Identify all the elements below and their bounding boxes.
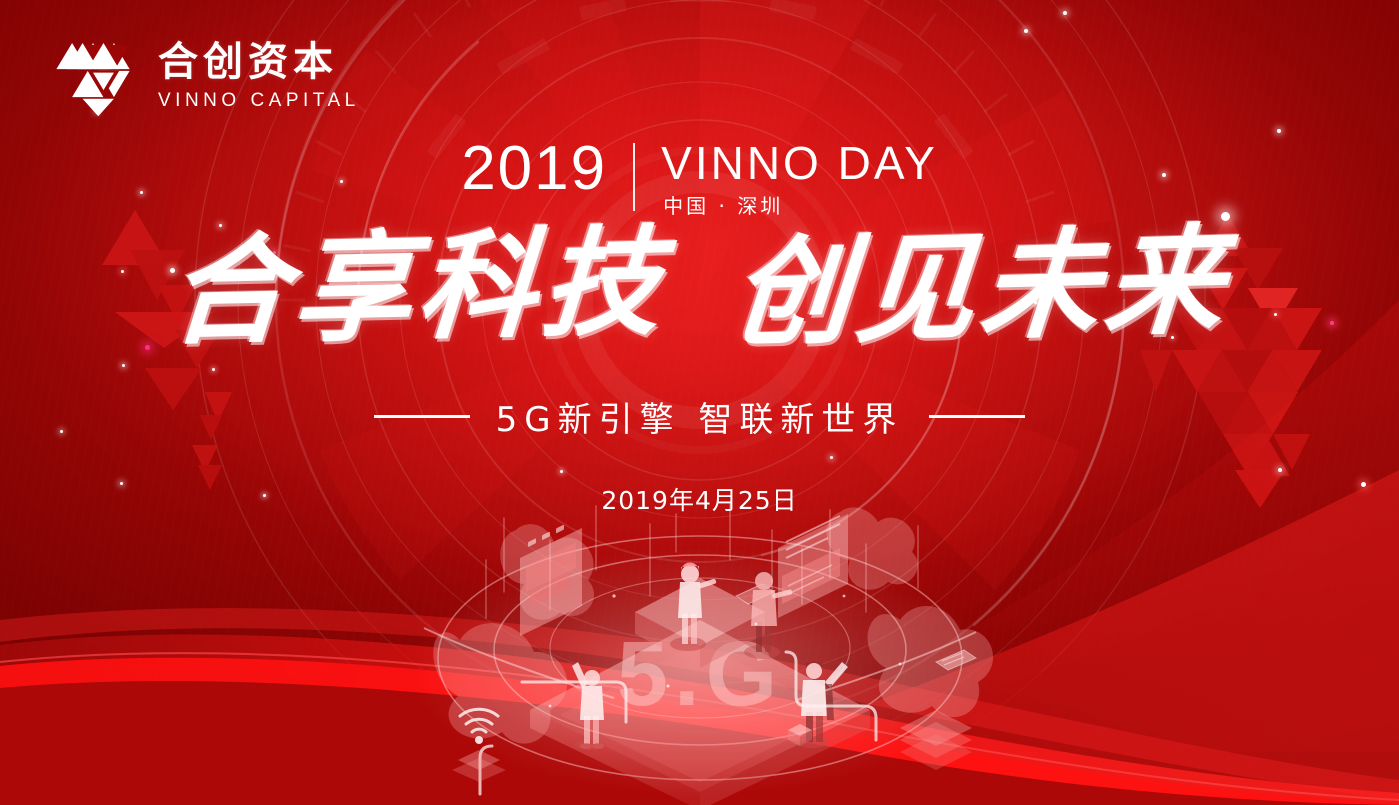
lockup-divider (633, 143, 635, 211)
brand-name-en: VINNO CAPITAL (158, 88, 360, 115)
isometric-5g-city-illustration: 5.G (400, 500, 1000, 805)
brand-logo-text: 合创资本 VINNO CAPITAL (158, 39, 360, 115)
subtitle-text: 5G新引擎 智联新世界 (496, 392, 904, 441)
subtitle-rule-right (929, 415, 1025, 418)
brand-logo[interactable]: 合创资本 VINNO CAPITAL (56, 36, 360, 118)
event-name: VINNO DAY (661, 140, 938, 186)
headline-part-2: 创见未来 (727, 221, 1233, 353)
triangle-fractal-logo-icon (56, 36, 144, 118)
event-lockup: 2019 VINNO DAY 中国 · 深圳 (0, 140, 1399, 219)
poster-canvas: 合创资本 VINNO CAPITAL 2019 VINNO DAY 中国 · 深… (0, 0, 1399, 805)
event-title-group: VINNO DAY 中国 · 深圳 (661, 140, 938, 219)
headline-part-1: 合享科技 (166, 223, 671, 351)
brand-name-cn: 合创资本 (158, 41, 360, 83)
event-year: 2019 (461, 140, 607, 199)
event-location: 中国 · 深圳 (661, 190, 938, 219)
subtitle-row: 5G新引擎 智联新世界 (0, 392, 1399, 441)
headline: 合享科技 创见未来 (0, 228, 1399, 346)
subtitle-rule-left (374, 415, 470, 418)
